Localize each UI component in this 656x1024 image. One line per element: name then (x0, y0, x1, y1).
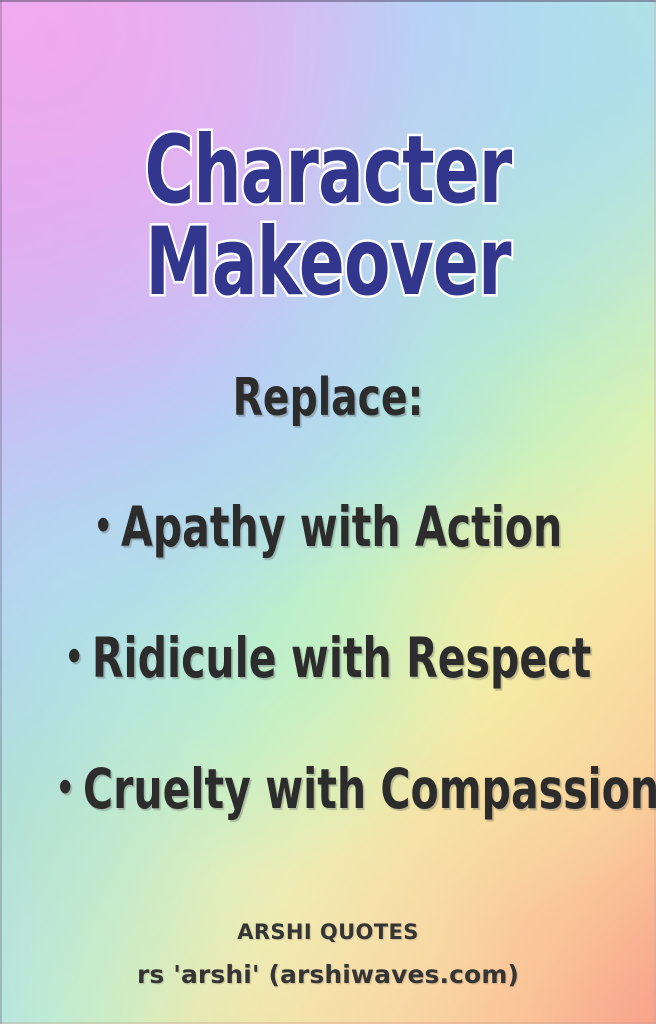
list-item: •Cruelty with Compassion (56, 762, 600, 817)
list-item-label: Ridicule with Respect (92, 626, 591, 690)
poster-footer: ARSHI QUOTES rs 'arshi' (arshiwaves.com) (0, 919, 656, 991)
list-item-label: Apathy with Action (121, 495, 562, 559)
bullet-icon: • (94, 503, 113, 549)
poster-title-line-2: Makeover (66, 217, 591, 309)
poster-content: Character Makeover Replace: •Apathy with… (0, 0, 656, 1024)
footer-attribution: rs 'arshi' (arshiwaves.com) (0, 959, 656, 990)
replacement-list: •Apathy with Action •Ridicule with Respe… (0, 500, 656, 817)
bullet-icon: • (56, 765, 75, 811)
footer-brand-name: ARSHI QUOTES (0, 919, 656, 945)
quote-poster: Character Makeover Replace: •Apathy with… (0, 0, 656, 1024)
poster-title-line-1: Character (66, 125, 591, 217)
replace-label: Replace: (52, 372, 603, 424)
bullet-icon: • (65, 634, 84, 680)
poster-title: Character Makeover (66, 125, 591, 309)
list-item: •Ridicule with Respect (56, 631, 600, 686)
list-item-label: Cruelty with Compassion (83, 757, 656, 821)
list-item: •Apathy with Action (56, 500, 600, 555)
